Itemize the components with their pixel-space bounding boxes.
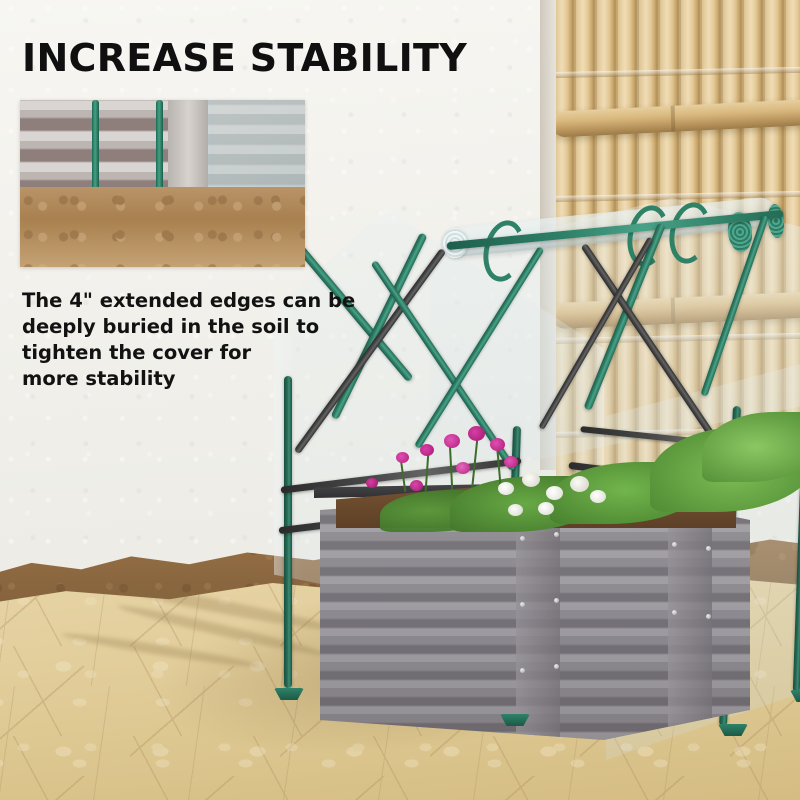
pink-flower — [420, 444, 434, 456]
white-flower — [538, 502, 554, 515]
white-flower — [498, 482, 514, 495]
white-flower — [508, 504, 523, 516]
body-line-4: more stability — [22, 366, 352, 392]
callout-body: The 4" extended edges can be deeply buri… — [22, 288, 352, 392]
white-flower — [522, 472, 540, 487]
pink-flower — [456, 462, 470, 474]
pink-flower — [410, 480, 423, 491]
inset-soil — [20, 187, 305, 267]
page-title: INCREASE STABILITY — [22, 36, 467, 80]
body-line-2: deeply buried in the soil to — [22, 314, 352, 340]
pink-flower — [490, 438, 505, 451]
pink-flower — [504, 456, 518, 468]
greenhouse-assembly — [250, 190, 800, 770]
pink-flower — [444, 434, 460, 448]
pink-flower — [396, 452, 409, 463]
body-line-1: The 4" extended edges can be — [22, 288, 352, 314]
white-flower — [570, 476, 589, 492]
white-flower — [546, 486, 563, 500]
frame-foot-left — [274, 688, 304, 700]
white-flower — [590, 490, 606, 503]
pink-flower — [468, 426, 485, 441]
buried-edge-detail-photo — [20, 100, 305, 267]
frame-foot-right — [718, 724, 748, 736]
product-infographic: INCREASE STABILITY The 4" extended edges… — [0, 0, 800, 800]
pink-flower — [366, 478, 378, 488]
body-line-3: tighten the cover for — [22, 340, 352, 366]
